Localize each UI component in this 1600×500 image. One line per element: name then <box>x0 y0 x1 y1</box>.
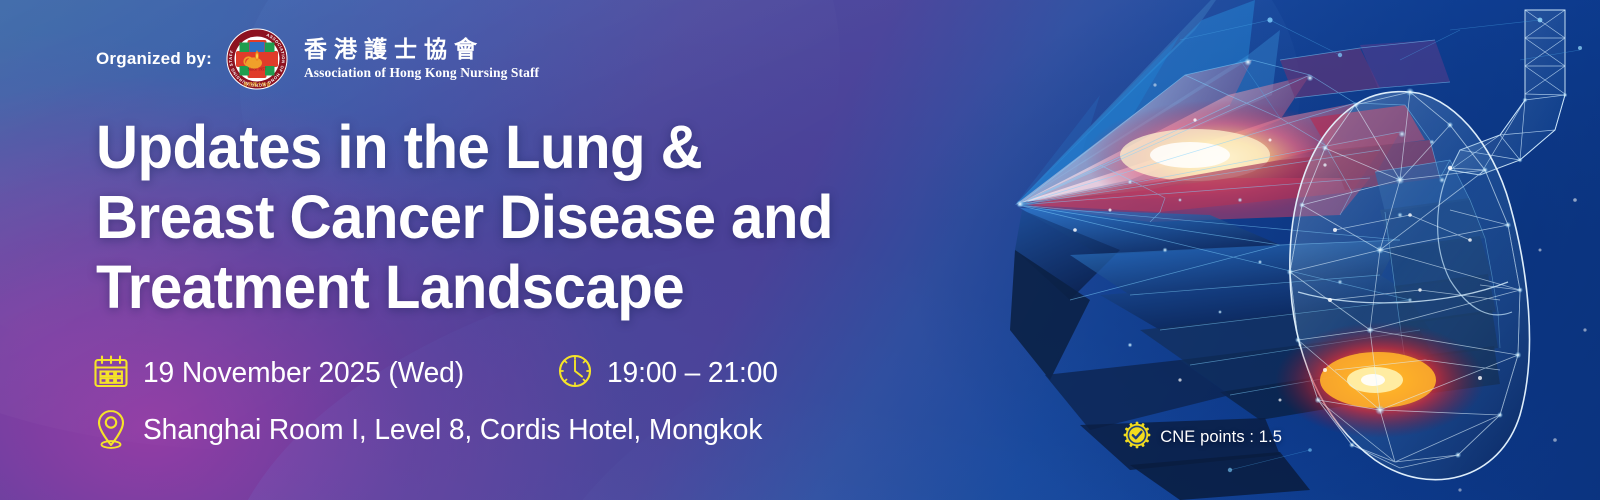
event-venue-item: Shanghai Room I, Level 8, Cordis Hotel, … <box>92 406 781 455</box>
organized-by-label: Organized by: <box>96 49 212 69</box>
organizer-row: Organized by: <box>96 28 539 90</box>
low-poly-anatomy-illustration <box>980 0 1600 500</box>
event-title-line-3: Treatment Landscape <box>96 252 833 322</box>
cne-points-badge: CNE points : 1.5 <box>1123 421 1282 454</box>
event-time-item: 19:00 – 21:00 <box>556 352 783 395</box>
event-time-text: 19:00 – 21:00 <box>607 357 778 390</box>
organizer-name-en: Association of Hong Kong Nursing Staff <box>304 65 539 81</box>
event-date-item: 19 November 2025 (Wed) <box>92 352 474 395</box>
organizer-names: 香港護士協會 Association of Hong Kong Nursing … <box>304 37 539 80</box>
event-banner: Organized by: <box>0 0 1600 500</box>
organizer-name-cn: 香港護士協會 <box>304 37 539 63</box>
clock-icon <box>556 352 594 395</box>
verified-seal-check-icon <box>1123 421 1151 454</box>
calendar-icon <box>92 352 130 395</box>
event-title-line-2: Breast Cancer Disease and <box>96 182 833 252</box>
svg-text:香港護士協會: 香港護士協會 <box>243 81 271 88</box>
svg-text:Since 1957: Since 1957 <box>248 67 267 72</box>
event-title-line-1: Updates in the Lung & <box>96 112 833 182</box>
hk-nursing-association-seal-icon: Since 1957 ASSOCIATION OF HONG KONG NURS… <box>226 28 288 90</box>
medical-illustration-artwork <box>980 0 1600 500</box>
event-venue-text: Shanghai Room I, Level 8, Cordis Hotel, … <box>143 414 762 447</box>
event-venue-row: Shanghai Room I, Level 8, Cordis Hotel, … <box>92 406 781 455</box>
event-title: Updates in the Lung & Breast Cancer Dise… <box>96 112 833 322</box>
cne-points-label: CNE points : 1.5 <box>1160 428 1282 447</box>
location-pin-icon <box>92 406 130 455</box>
event-date-text: 19 November 2025 (Wed) <box>143 357 464 390</box>
event-datetime-row: 19 November 2025 (Wed) 19:00 – 21:00 <box>92 352 783 395</box>
